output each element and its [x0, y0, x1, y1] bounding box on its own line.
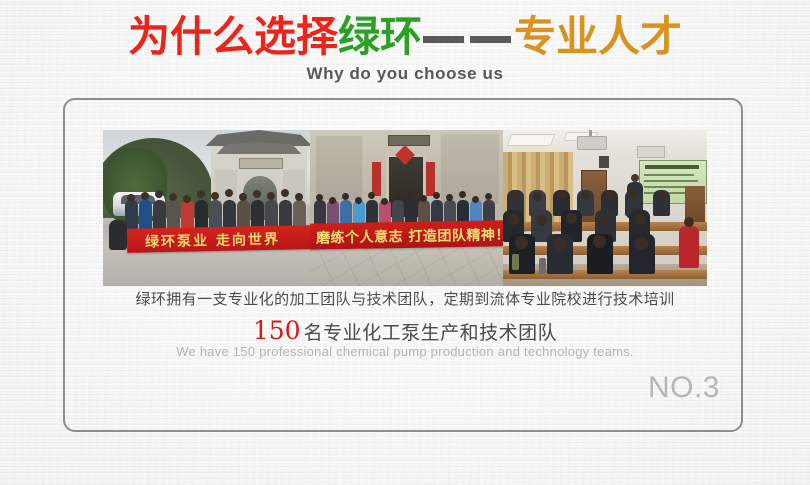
- projector: [577, 136, 607, 150]
- photo-team-outing-old-house: 磨练个人意志 打造团队精神！: [310, 130, 503, 286]
- photo-banner-1-text: 绿环泵业 走向世界: [145, 229, 280, 252]
- air-vent: [637, 146, 665, 158]
- caption-chinese: 绿环拥有一支专业化的加工团队与技术团队，定期到流体专业院校进行技术培训: [0, 288, 810, 309]
- page-subtitle: Why do you choose us: [0, 64, 810, 84]
- page-title: 为什么选择绿环专业人才: [0, 12, 810, 62]
- caption-english: We have 150 professional chemical pump p…: [0, 344, 810, 359]
- caption-highlight: 150名专业化工泵生产和技术团队: [0, 316, 810, 345]
- title-dash-connector: [423, 19, 513, 61]
- photo-technical-training-classroom: [503, 130, 707, 286]
- highlight-number: 150: [253, 316, 301, 345]
- person-kneeling: [109, 220, 127, 250]
- title-segment-orange: 专业人才: [514, 12, 682, 61]
- promo-page: 为什么选择绿环专业人才 Why do you choose us: [0, 0, 810, 485]
- photo-gallery: 绿环泵业 走向世界: [103, 130, 707, 286]
- highlight-text: 名专业化工泵生产和技术团队: [304, 322, 558, 344]
- title-segment-red: 为什么选择: [128, 12, 338, 61]
- section-number-badge: NO.3: [540, 371, 720, 405]
- archway-plaque: [239, 158, 283, 169]
- tea-cup: [512, 254, 519, 270]
- person-red-jacket: [679, 226, 699, 268]
- photo-banner-2-text: 磨练个人意志 打造团队精神！: [316, 224, 503, 247]
- ceiling-light-1: [507, 134, 555, 146]
- house-signboard: [388, 135, 430, 146]
- thermos-bottle: [539, 258, 546, 274]
- title-segment-brand: 绿环: [338, 12, 422, 61]
- wall-speaker: [599, 156, 609, 168]
- photo-banner-2: 磨练个人意志 打造团队精神！: [310, 220, 503, 249]
- photo-banner-1: 绿环泵业 走向世界: [127, 225, 310, 253]
- photo-team-outing-archway: 绿环泵业 走向世界: [103, 130, 310, 286]
